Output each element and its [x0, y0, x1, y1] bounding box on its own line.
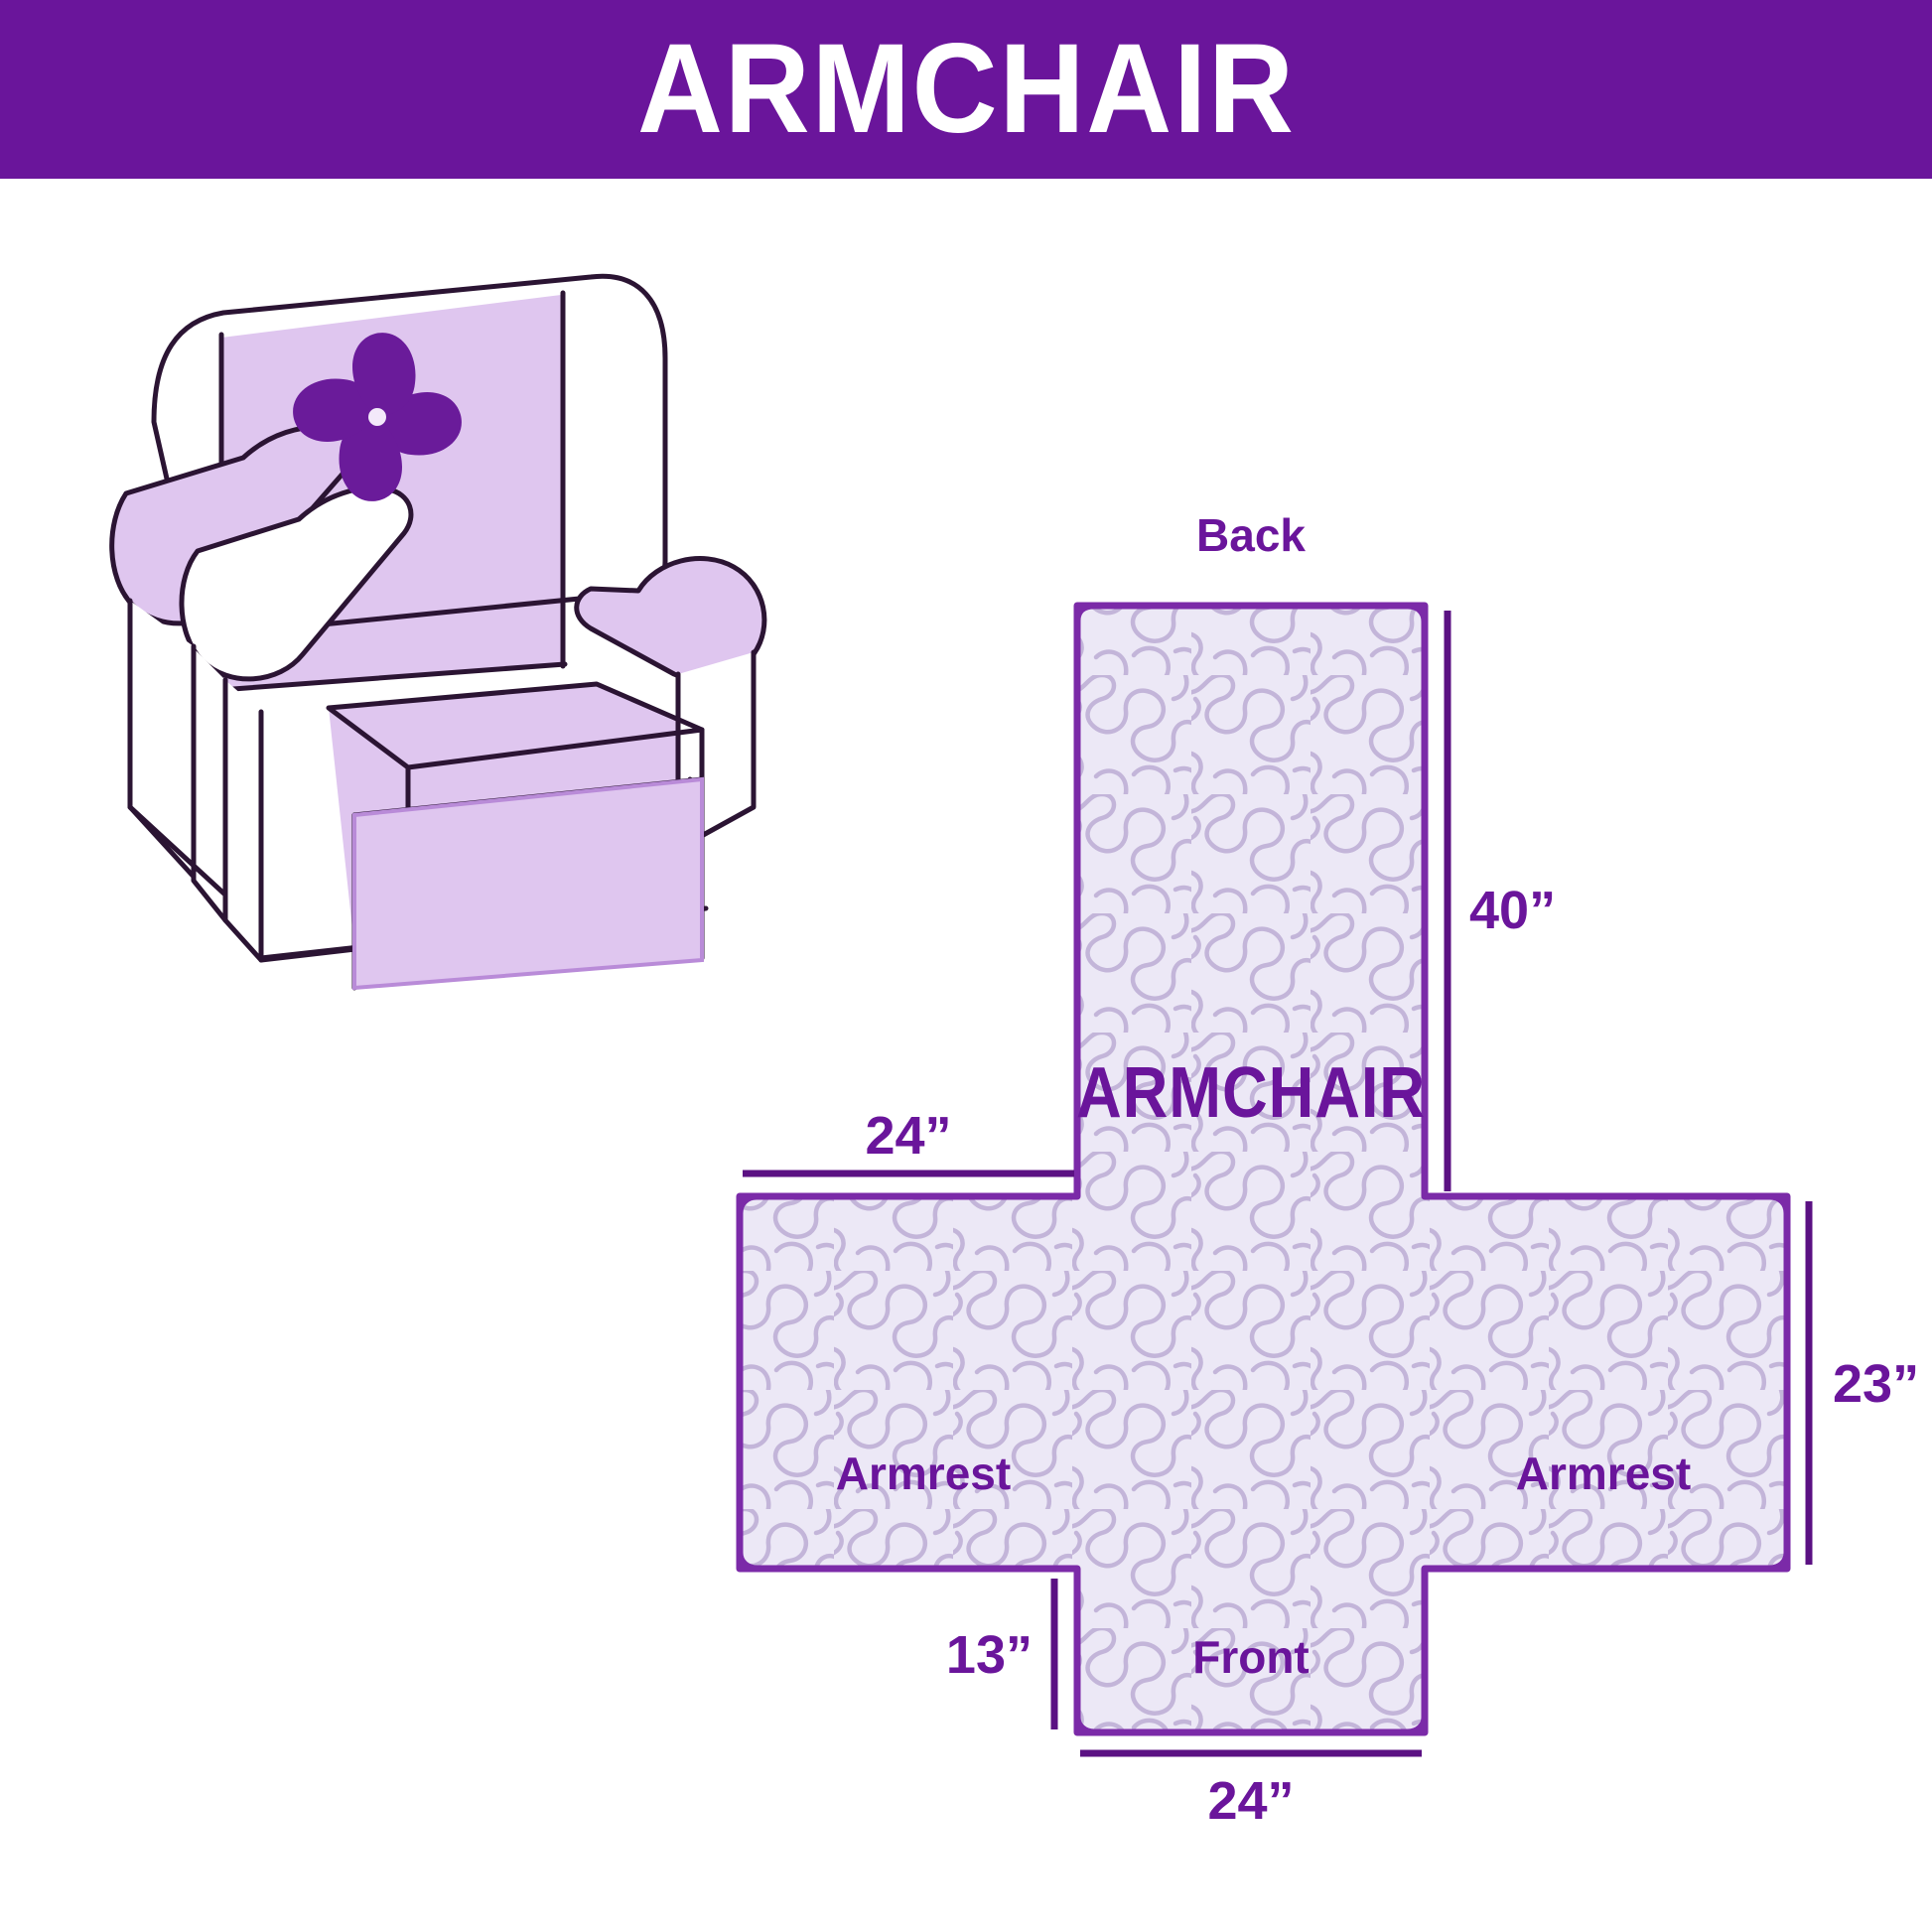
dim-label-front-height: 13”	[946, 1625, 1033, 1685]
dim-label-body-height: 23”	[1833, 1354, 1919, 1414]
label-armrest-right: Armrest	[1516, 1448, 1691, 1499]
front-left-skirt	[225, 680, 261, 960]
fan-hub-icon	[368, 408, 386, 426]
pattern-diagram-svg: Back ARMCHAIR Armrest Armrest Front 40” …	[596, 437, 1932, 1847]
dim-label-back-height: 40”	[1469, 881, 1556, 940]
product-dimension-infographic: ARMCHAIR	[0, 0, 1932, 1932]
page-title: ARMCHAIR	[637, 26, 1296, 153]
label-armrest-left: Armrest	[836, 1448, 1011, 1499]
header-banner: ARMCHAIR	[0, 0, 1932, 179]
slipcover-pattern-diagram: Back ARMCHAIR Armrest Armrest Front 40” …	[596, 437, 1932, 1847]
cross-pattern-shape	[740, 606, 1787, 1732]
dim-label-front-width: 24”	[1207, 1771, 1294, 1831]
label-center-armchair: ARMCHAIR	[1076, 1053, 1426, 1133]
label-front: Front	[1192, 1631, 1310, 1683]
label-back: Back	[1196, 509, 1306, 561]
dim-label-back-width: 24”	[865, 1106, 951, 1166]
